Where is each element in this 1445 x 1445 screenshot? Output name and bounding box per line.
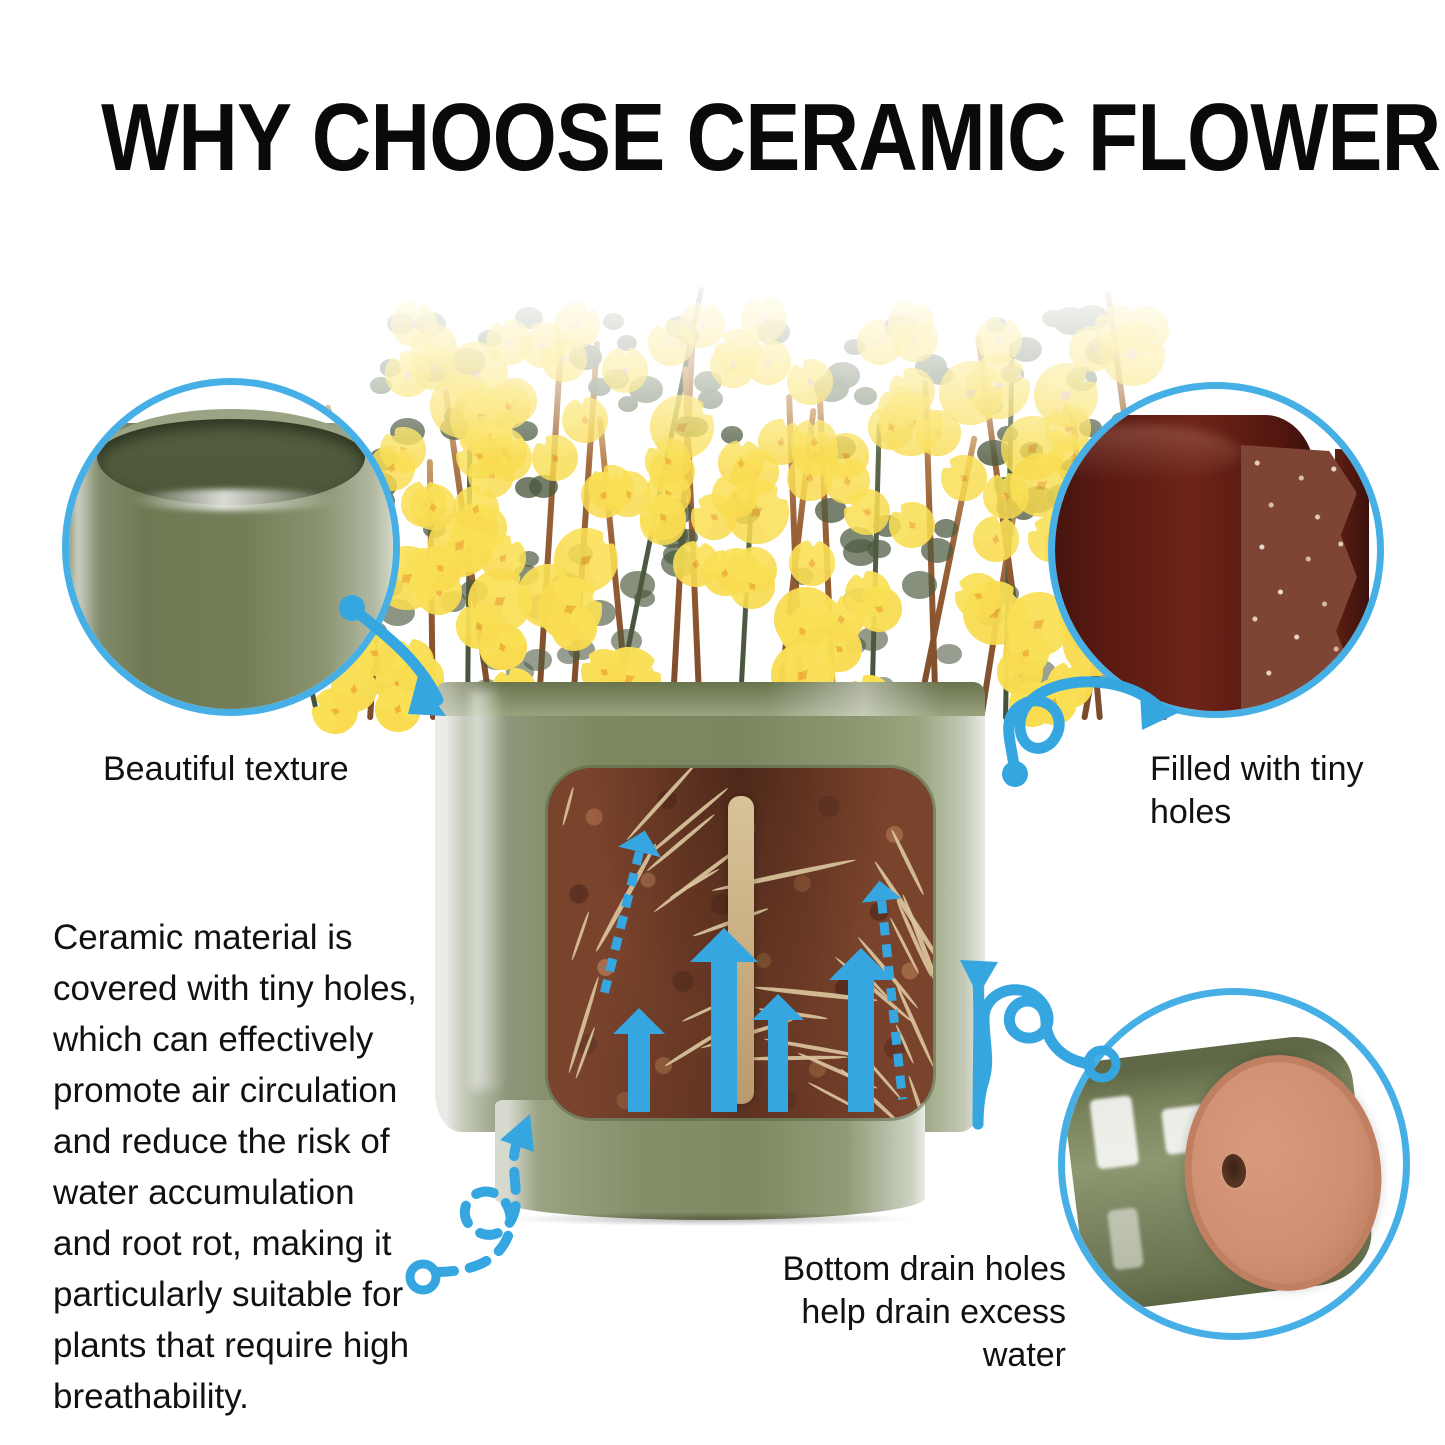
flower-blossom (956, 573, 1000, 617)
paragraph-line: covered with tiny holes, (53, 963, 433, 1014)
flower-blossom (723, 445, 759, 481)
flower-blossom (856, 586, 901, 631)
flower-blossom (787, 359, 833, 405)
flower-blossom (565, 400, 605, 440)
flower-blossom (676, 544, 715, 583)
foliage-leaf (902, 571, 937, 599)
paragraph-line: particularly suitable for (53, 1269, 433, 1320)
crosssection-closeup-image (1055, 389, 1377, 711)
flower-blossom (976, 519, 1016, 559)
porous-clay-body (1241, 445, 1357, 718)
callout-circle-drain[interactable] (1058, 988, 1410, 1340)
flower-blossom (531, 435, 578, 482)
callout-circle-texture[interactable] (62, 378, 400, 716)
flower-blossom (868, 405, 913, 450)
flower-blossom (395, 305, 433, 343)
flower-blossom (794, 545, 830, 581)
flower-blossom (485, 383, 531, 429)
soil-cutaway-window (548, 768, 933, 1118)
label-filled-with-tiny-holes: Filled with tiny holes (1150, 748, 1445, 834)
pot-foot (495, 1100, 925, 1220)
infographic-canvas: WHY CHOOSE CERAMIC FLOWERPOTS (0, 0, 1445, 1445)
flower-blossom (791, 458, 829, 496)
rim-gloss-highlight (129, 489, 339, 511)
airflow-arrow-solid (613, 1008, 665, 1112)
base-closeup-image (1065, 995, 1403, 1333)
flower-blossom (412, 486, 454, 528)
paragraph-line: plants that require high (53, 1320, 433, 1371)
paragraph-line: water accumulation (53, 1167, 433, 1218)
foliage-leaf (618, 396, 638, 412)
flower-blossom (1003, 629, 1049, 675)
foliage-leaf (854, 387, 876, 405)
flower-blossom (457, 434, 501, 478)
label-beautiful-texture: Beautiful texture (103, 748, 349, 791)
pot-rim (435, 682, 985, 716)
flower-blossom (845, 490, 889, 534)
pot-highlight (471, 690, 505, 1090)
foliage-leaf (515, 477, 542, 498)
airflow-arrow-solid (690, 928, 758, 1112)
flower-blossom (987, 477, 1025, 515)
rim-edge-highlight (73, 445, 99, 675)
foliage-leaf (634, 590, 655, 607)
foliage-leaf (603, 313, 624, 330)
flower-blossom (712, 344, 754, 386)
pot-shadow (511, 1212, 911, 1226)
texture-closeup-image (69, 385, 393, 709)
paragraph-line: and reduce the risk of (53, 1116, 433, 1167)
breathability-paragraph: Ceramic material iscovered with tiny hol… (53, 912, 433, 1422)
paragraph-line: breathability. (53, 1371, 433, 1422)
flower-blossom (893, 317, 937, 361)
airflow-arrow-solid (752, 994, 804, 1112)
callout-circle-holes[interactable] (1048, 382, 1384, 718)
flower-blossom (608, 353, 643, 388)
flower-blossom (455, 487, 498, 530)
paragraph-line: which can effectively (53, 1014, 433, 1065)
foliage-leaf (867, 540, 891, 559)
flower-blossom (582, 472, 627, 517)
paragraph-line: promote air circulation (53, 1065, 433, 1116)
flower-blossom (683, 306, 720, 343)
paragraph-line: and root rot, making it (53, 1218, 433, 1269)
label-bottom-drain-holes: Bottom drain holes help drain excess wat… (736, 1248, 1066, 1376)
flower-blossom (457, 604, 500, 647)
paragraph-line: Ceramic material is (53, 912, 433, 963)
